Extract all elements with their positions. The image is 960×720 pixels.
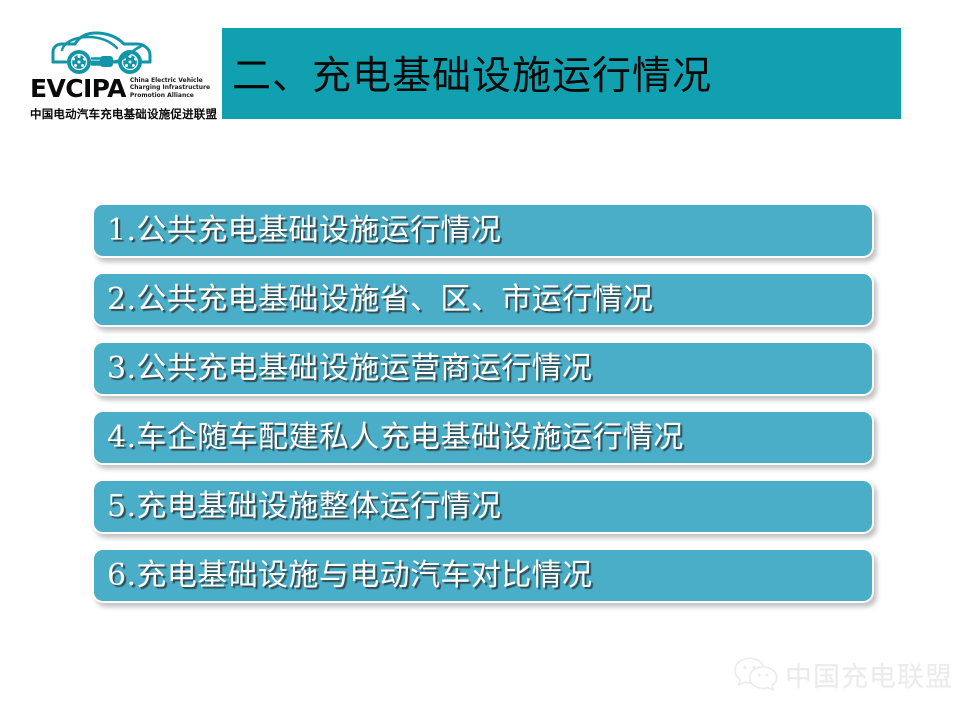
logo-wordmark: EVCIPA: [30, 76, 126, 101]
watermark: 中国充电联盟: [733, 650, 945, 698]
logo-english-line-2: Charging Infrastructure: [130, 84, 210, 92]
logo-wordmark-row: EVCIPA China Electric Vehicle Charging I…: [30, 74, 210, 102]
wechat-icon: [733, 654, 779, 694]
agenda-list: 1.公共充电基础设施运行情况 2.公共充电基础设施省、区、市运行情况 3.公共充…: [92, 203, 874, 617]
agenda-item-label: 2.公共充电基础设施省、区、市运行情况: [94, 285, 653, 315]
agenda-item-6[interactable]: 6.充电基础设施与电动汽车对比情况: [92, 548, 874, 603]
agenda-item-5[interactable]: 5.充电基础设施整体运行情况: [92, 479, 874, 534]
title-banner: 二、充电基础设施运行情况: [222, 28, 901, 119]
logo-english-line-1: China Electric Vehicle: [130, 77, 210, 85]
page-title: 二、充电基础设施运行情况: [232, 44, 712, 100]
ev-car-charging-logo-icon: [44, 24, 164, 76]
agenda-item-label: 4.车企随车配建私人充电基础设施运行情况: [94, 423, 684, 453]
agenda-item-label: 1.公共充电基础设施运行情况: [94, 216, 501, 246]
agenda-item-1[interactable]: 1.公共充电基础设施运行情况: [92, 203, 874, 258]
agenda-item-label: 3.公共充电基础设施运营商运行情况: [94, 354, 592, 384]
agenda-item-label: 5.充电基础设施整体运行情况: [94, 492, 501, 522]
slide-canvas: EVCIPA China Electric Vehicle Charging I…: [0, 0, 960, 720]
agenda-item-4[interactable]: 4.车企随车配建私人充电基础设施运行情况: [92, 410, 874, 465]
logo-english-line-3: Promotion Alliance: [130, 92, 210, 100]
agenda-item-2[interactable]: 2.公共充电基础设施省、区、市运行情况: [92, 272, 874, 327]
watermark-label: 中国充电联盟: [785, 655, 953, 694]
evcipa-logo: EVCIPA China Electric Vehicle Charging I…: [30, 24, 210, 124]
agenda-item-3[interactable]: 3.公共充电基础设施运营商运行情况: [92, 341, 874, 396]
agenda-item-label: 6.充电基础设施与电动汽车对比情况: [94, 561, 592, 591]
logo-chinese-name: 中国电动汽车充电基础设施促进联盟: [30, 106, 210, 122]
logo-english-lines: China Electric Vehicle Charging Infrastr…: [130, 77, 210, 100]
